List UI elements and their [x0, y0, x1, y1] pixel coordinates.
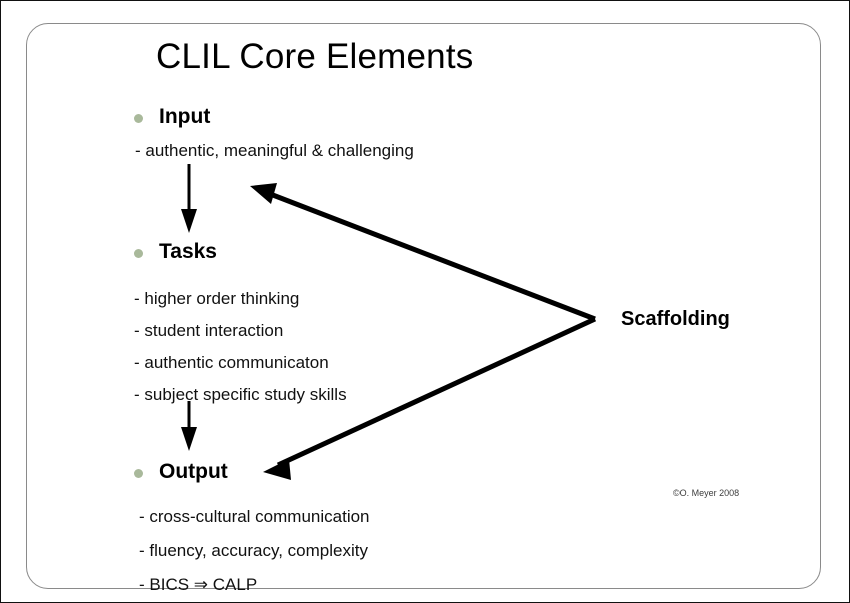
section-tasks-items: - higher order thinking - student intera… [134, 283, 347, 411]
section-tasks: Tasks - higher order thinking - student … [134, 240, 347, 411]
section-input-heading: Input [134, 105, 414, 131]
list-item: - subject specific study skills [134, 379, 347, 411]
slide-canvas: CLIL Core Elements Input - authentic, me… [0, 0, 850, 603]
section-output-items: - cross-cultural communication - fluency… [139, 500, 370, 602]
copyright-note: ©O. Meyer 2008 [673, 488, 739, 498]
section-input-label: Input [159, 105, 210, 129]
list-item: - higher order thinking [134, 283, 347, 315]
list-item: - BICS ⇒ CALP [139, 568, 370, 602]
section-input-items: - authentic, meaningful & challenging [135, 140, 414, 162]
list-item: - fluency, accuracy, complexity [139, 534, 370, 568]
list-item: - authentic, meaningful & challenging [135, 140, 414, 162]
section-input: Input - authentic, meaningful & challeng… [134, 105, 414, 162]
bullet-dot-icon [134, 114, 143, 123]
section-tasks-label: Tasks [159, 240, 217, 264]
bullet-dot-icon [134, 249, 143, 258]
bullet-dot-icon [134, 469, 143, 478]
arrow-input-to-tasks [181, 164, 197, 233]
list-item: - student interaction [134, 315, 347, 347]
section-output-heading: Output [134, 460, 370, 486]
section-tasks-heading: Tasks [134, 240, 347, 266]
section-output-label: Output [159, 460, 228, 484]
scaffolding-label: Scaffolding [621, 308, 730, 331]
list-item: - authentic communicaton [134, 347, 347, 379]
arrow-layer [1, 1, 850, 603]
page-title: CLIL Core Elements [156, 37, 473, 77]
list-item: - cross-cultural communication [139, 500, 370, 534]
section-output: Output - cross-cultural communication - … [134, 460, 370, 602]
